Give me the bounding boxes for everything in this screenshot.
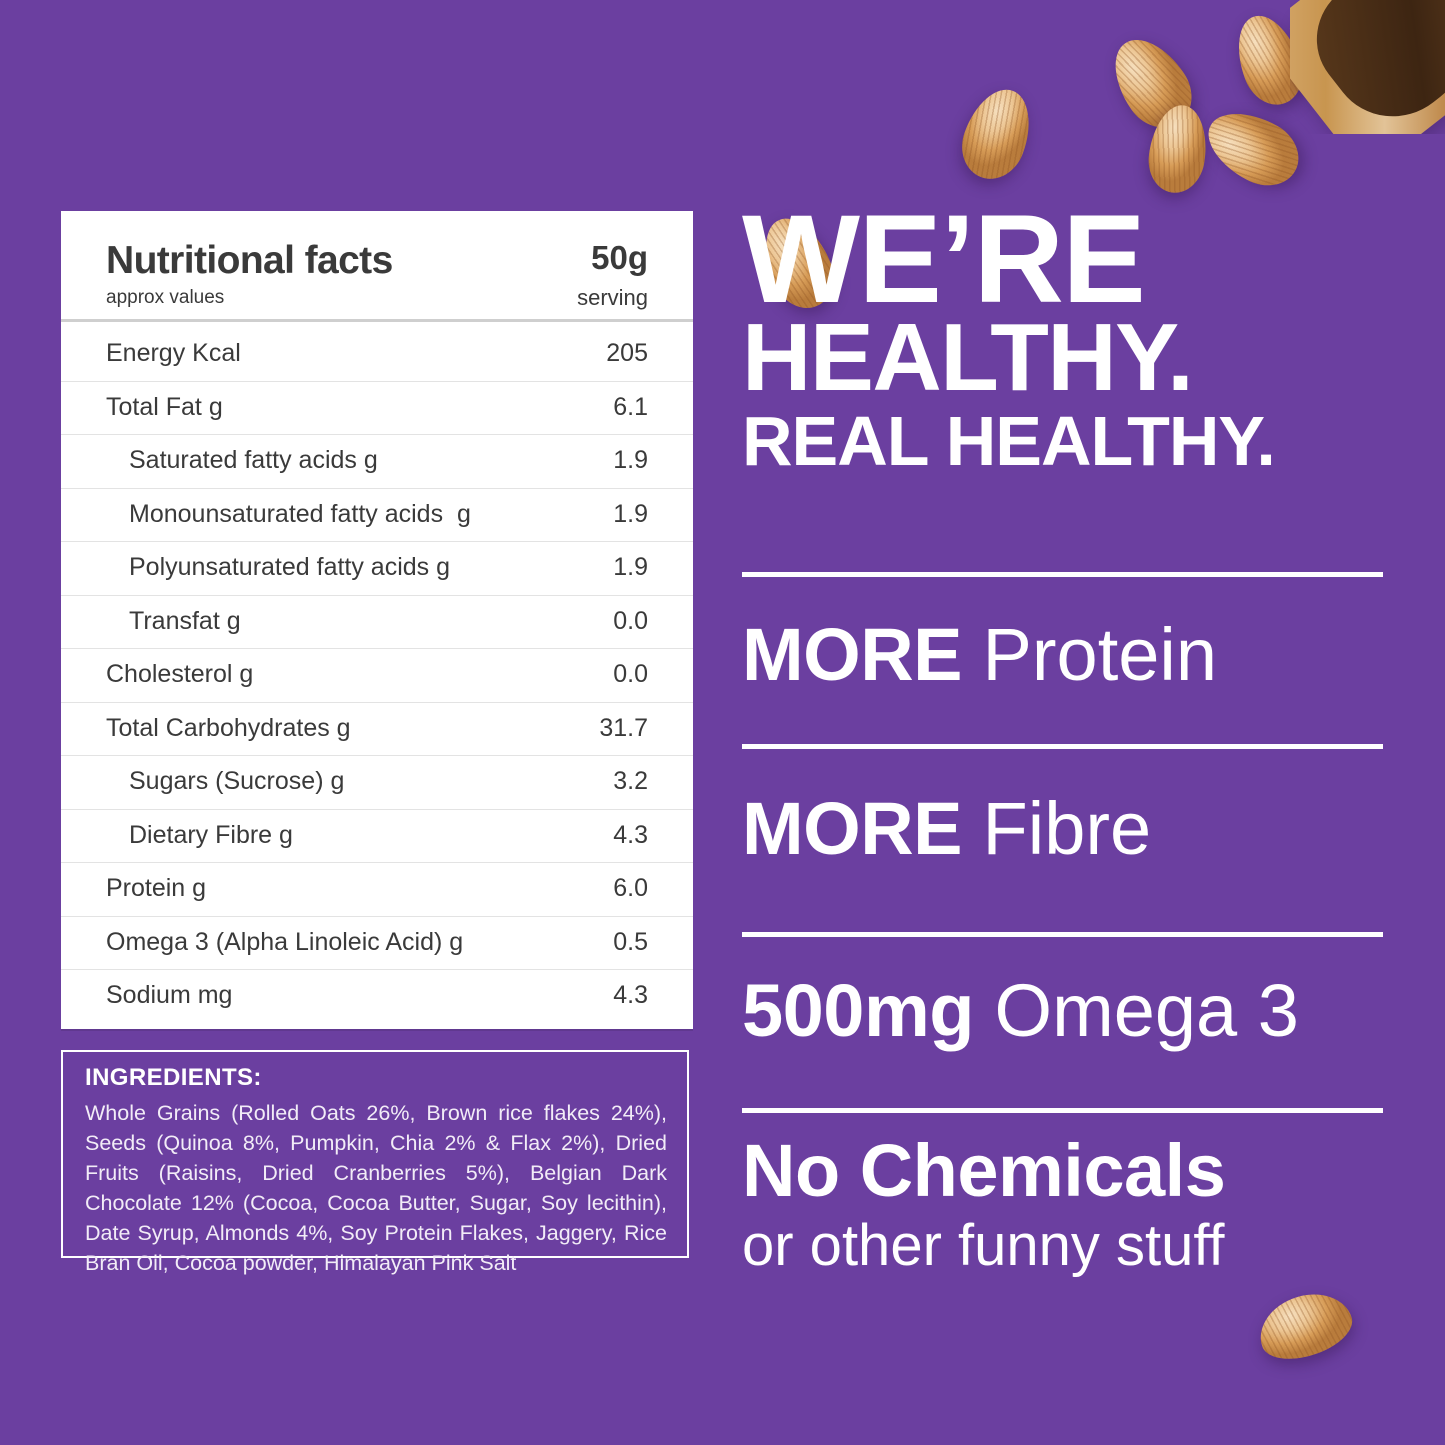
nutrient-value: 4.3 — [613, 821, 648, 850]
table-row: Sodium mg4.3 — [61, 970, 693, 1023]
nutrient-name: Protein g — [106, 874, 206, 903]
nutrient-name: Energy Kcal — [106, 339, 241, 368]
nutrient-name: Total Carbohydrates g — [106, 714, 351, 743]
nutrient-name: Transfat g — [129, 607, 241, 636]
nutrient-name: Sugars (Sucrose) g — [129, 767, 344, 796]
approx-values-label: approx values — [106, 287, 224, 309]
nutrient-name: Saturated fatty acids g — [129, 446, 378, 475]
claim-line: No Chemicals — [742, 1128, 1385, 1213]
claim-line: MORE Fibre — [742, 786, 1385, 871]
table-row: Transfat g0.0 — [61, 596, 693, 650]
nutrient-value: 1.9 — [613, 500, 648, 529]
nutrient-name: Monounsaturated fatty acids g — [129, 500, 471, 529]
nutrient-value: 6.1 — [613, 393, 648, 422]
claim-label: Protein — [962, 613, 1217, 696]
nutrient-name: Cholesterol g — [106, 660, 253, 689]
table-row: Total Carbohydrates g31.7 — [61, 703, 693, 757]
claim-highlight: MORE — [742, 613, 962, 696]
nutrient-name: Dietary Fibre g — [129, 821, 293, 850]
claim-divider — [742, 1108, 1383, 1113]
table-row: Energy Kcal205 — [61, 328, 693, 382]
nutrient-value: 1.9 — [613, 446, 648, 475]
ingredients-text: Whole Grains (Rolled Oats 26%, Brown ric… — [85, 1098, 667, 1278]
table-row: Dietary Fibre g4.3 — [61, 810, 693, 864]
claim-divider — [742, 932, 1383, 937]
nutrient-value: 6.0 — [613, 874, 648, 903]
table-row: Omega 3 (Alpha Linoleic Acid) g0.5 — [61, 917, 693, 971]
headline-line-1: WE’RE — [742, 208, 1385, 312]
claim-label: Fibre — [962, 787, 1151, 870]
nutrient-name: Omega 3 (Alpha Linoleic Acid) g — [106, 928, 463, 957]
nutrient-value: 0.0 — [613, 660, 648, 689]
claim-highlight: MORE — [742, 787, 962, 870]
table-row: Protein g6.0 — [61, 863, 693, 917]
table-row: Total Fat g6.1 — [61, 382, 693, 436]
nutrient-value: 0.0 — [613, 607, 648, 636]
table-row: Monounsaturated fatty acids g1.9 — [61, 489, 693, 543]
nutrient-value: 0.5 — [613, 928, 648, 957]
nutrient-value: 31.7 — [599, 714, 648, 743]
claim-divider — [742, 572, 1383, 577]
packaging-panel: Nutritional facts approx values 50g serv… — [0, 0, 1445, 1445]
claim-highlight: 500mg — [742, 969, 974, 1052]
table-row: Polyunsaturated fatty acids g1.9 — [61, 542, 693, 596]
nutrition-rows: Energy Kcal205Total Fat g6.1Saturated fa… — [61, 328, 693, 1023]
headline-block: WE’RE HEALTHY. REAL HEALTHY. — [742, 208, 1385, 478]
ingredients-box: INGREDIENTS: Whole Grains (Rolled Oats 2… — [61, 1050, 689, 1258]
claim-label: Omega 3 — [974, 969, 1299, 1052]
headline-line-2: HEALTHY. — [742, 312, 1385, 404]
table-row: Sugars (Sucrose) g3.2 — [61, 756, 693, 810]
serving-size-value: 50g — [591, 239, 648, 277]
claim-line: MORE Protein — [742, 612, 1385, 697]
table-row: Saturated fatty acids g1.9 — [61, 435, 693, 489]
headline-line-3: REAL HEALTHY. — [742, 404, 1385, 478]
header-divider — [61, 319, 693, 322]
nutrient-name: Polyunsaturated fatty acids g — [129, 553, 450, 582]
nutrition-facts-card: Nutritional facts approx values 50g serv… — [61, 211, 693, 1029]
claim-divider — [742, 744, 1383, 749]
nutrient-value: 1.9 — [613, 553, 648, 582]
claim-line: 500mg Omega 3 — [742, 968, 1385, 1053]
table-row: Cholesterol g0.0 — [61, 649, 693, 703]
serving-size-label: serving — [577, 285, 648, 311]
claim-highlight: No Chemicals — [742, 1129, 1225, 1212]
nutrient-value: 3.2 — [613, 767, 648, 796]
nutrient-name: Total Fat g — [106, 393, 223, 422]
nutrient-value: 4.3 — [613, 981, 648, 1010]
ingredients-heading: INGREDIENTS: — [85, 1064, 262, 1092]
nutrient-value: 205 — [606, 339, 648, 368]
marketing-column: WE’RE HEALTHY. REAL HEALTHY. MORE Protei… — [742, 0, 1385, 1445]
page-title: Nutritional facts — [106, 239, 393, 283]
nutrient-name: Sodium mg — [106, 981, 232, 1010]
nutrition-facts-header: Nutritional facts approx values 50g serv… — [61, 211, 693, 319]
claim-subtitle: or other funny stuff — [742, 1212, 1385, 1279]
